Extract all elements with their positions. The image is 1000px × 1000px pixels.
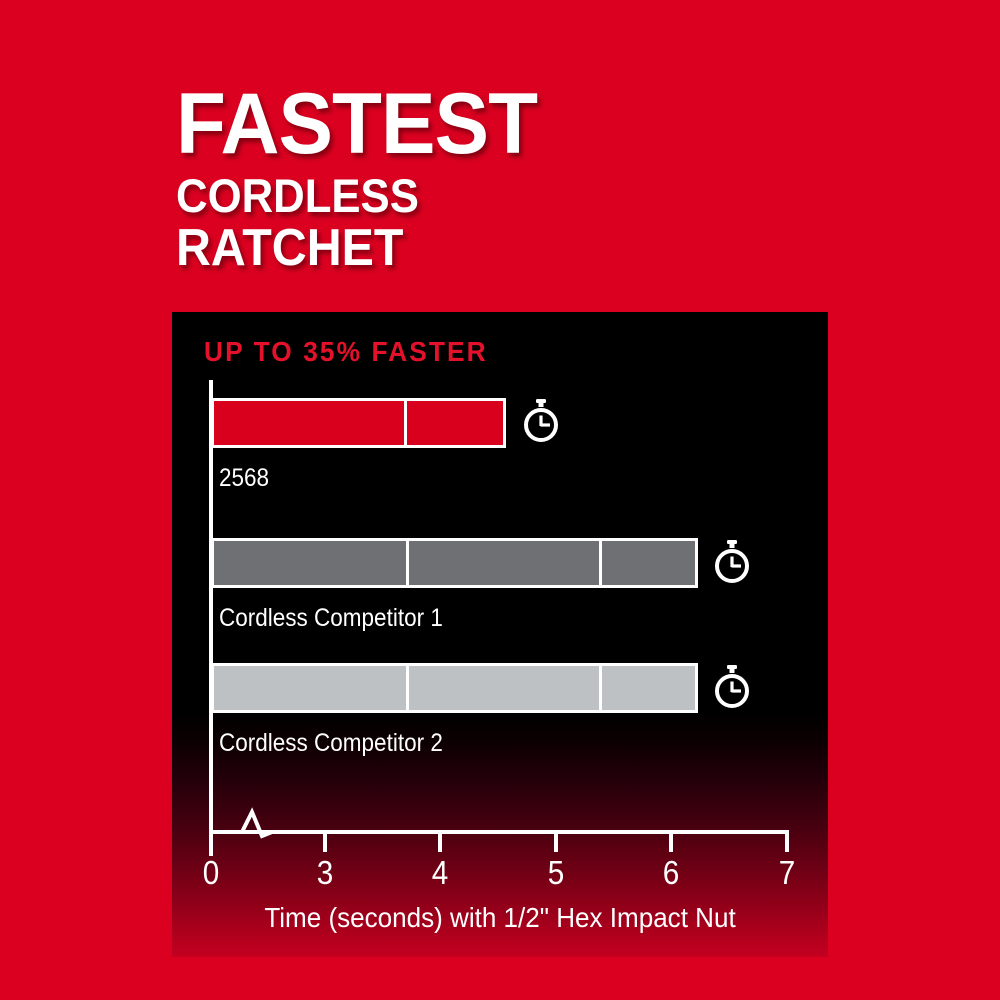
bar-segment [404,401,503,445]
x-tick-label-0: 0 [203,854,220,892]
x-tick-7 [785,830,789,852]
bar-2568 [211,398,506,448]
bar-segment [599,666,695,710]
chart-caption: Time (seconds) with 1/2" Hex Impact Nut [195,902,805,934]
bar-segment [214,401,404,445]
bar-cordless-competitor-1 [211,538,698,588]
headline-line-1: FASTEST [176,88,537,162]
x-tick-label-7: 7 [779,854,796,892]
x-tick-0 [209,808,213,856]
headline-line-3: RATCHET [176,222,529,275]
axis-break-icon [228,802,292,842]
bar-segment [599,541,695,585]
x-tick-label-4: 4 [432,854,449,892]
x-tick-label-5: 5 [548,854,565,892]
stopwatch-icon [517,397,565,445]
x-tick-3 [323,830,327,852]
chart-panel: UP TO 35% FASTER 2568 [172,312,828,957]
bar-cordless-competitor-2 [211,663,698,713]
bar-segment [406,666,600,710]
x-tick-4 [438,830,442,852]
bar-label-cordless-competitor-1: Cordless Competitor 1 [219,604,443,633]
headline-line-2: CORDLESS [176,172,529,220]
bar-segment [214,541,406,585]
stopwatch-icon [708,663,756,711]
bar-label-cordless-competitor-2: Cordless Competitor 2 [219,729,443,758]
x-tick-5 [554,830,558,852]
headline: FASTEST CORDLESS RATCHET [176,88,556,275]
x-tick-label-6: 6 [663,854,680,892]
x-tick-label-3: 3 [317,854,334,892]
x-axis-line [209,830,788,834]
x-tick-6 [669,830,673,852]
bar-segment [214,666,406,710]
bar-segment [406,541,600,585]
stopwatch-icon [708,538,756,586]
plot-area: 2568 Cordless Competitor 1 [172,312,828,957]
bar-label-2568: 2568 [219,464,269,493]
